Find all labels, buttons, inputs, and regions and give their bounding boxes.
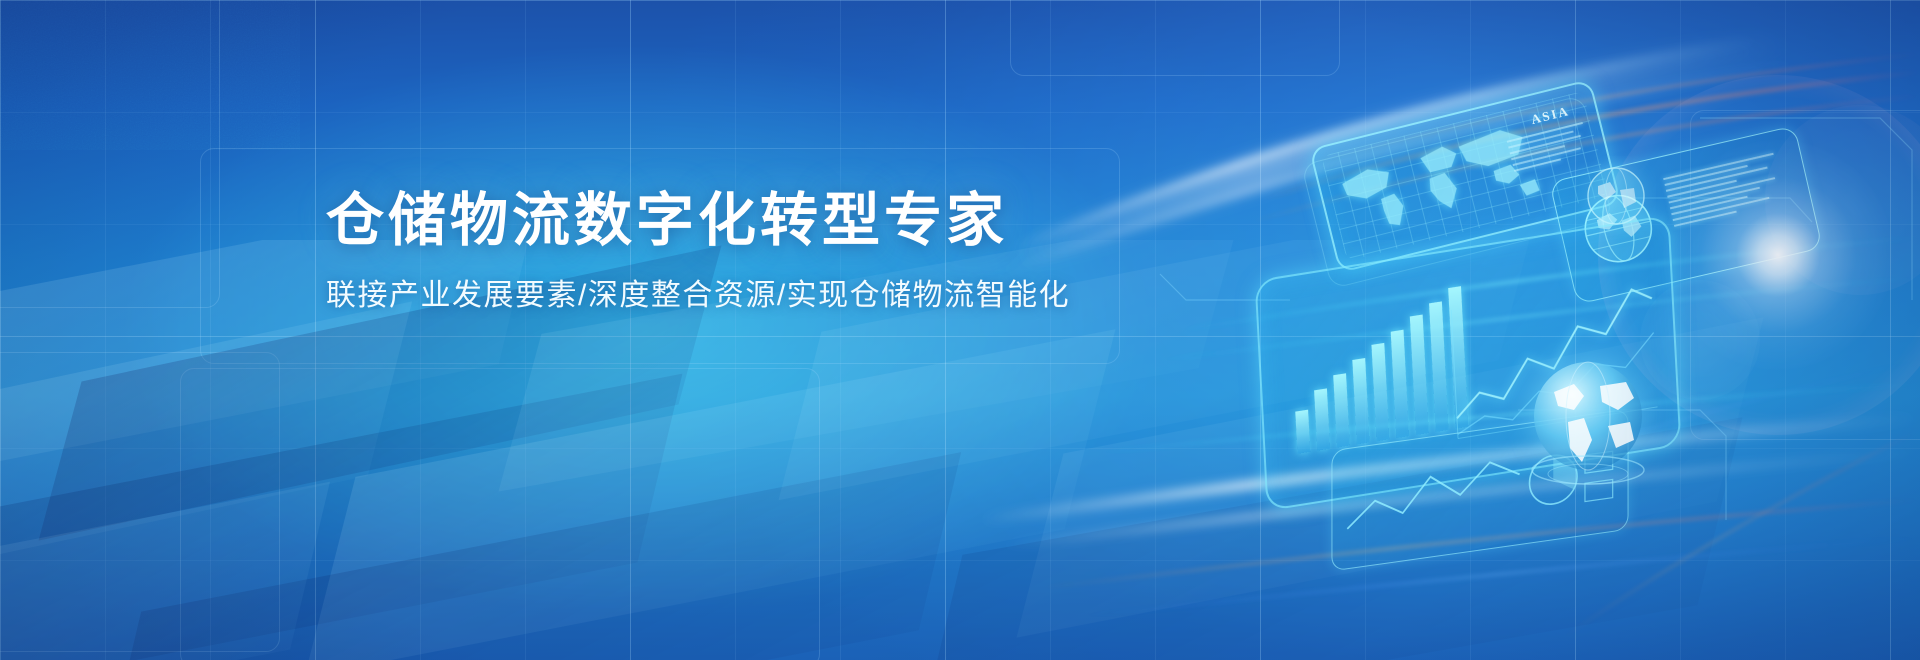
film-grain-overlay	[0, 0, 300, 150]
plate-4	[0, 374, 682, 660]
vignette-overlay	[0, 0, 1920, 660]
globe-icon-large	[1508, 336, 1668, 496]
plate-3	[0, 301, 412, 607]
decorative-frame-top-left	[0, 0, 220, 308]
decorative-frame-right	[1690, 110, 1920, 440]
plate-5	[305, 329, 1116, 660]
world-map-panel-frame	[1309, 79, 1621, 273]
globe-icon-small	[1576, 156, 1656, 236]
decorative-frame-top-right	[1010, 0, 1340, 76]
lens-flare-icon	[1663, 140, 1893, 370]
plate-8	[0, 482, 330, 660]
hero-copy: 仓储物流数字化转型专家 联接产业发展要素/深度整合资源/实现仓储物流智能化	[326, 186, 1326, 316]
background-grid-major	[0, 0, 1920, 660]
page-subtitle: 联接产业发展要素/深度整合资源/实现仓储物流智能化	[326, 276, 1326, 316]
background-grid	[0, 0, 1920, 660]
world-map-icon	[1326, 110, 1553, 256]
world-map-panel-outline	[1301, 95, 1613, 289]
page-title: 仓储物流数字化转型专家	[326, 186, 1326, 256]
data-globe-text-lines	[1663, 152, 1789, 227]
plate-7	[99, 452, 961, 660]
light-streaks-group	[0, 0, 1920, 660]
flare-ring-mid	[1765, 105, 1920, 295]
world-map-panel-shadow	[1301, 95, 1613, 289]
decorative-frame-lower-mid	[180, 368, 820, 660]
world-map-grid	[1321, 91, 1609, 261]
asia-label: ASIA	[1529, 103, 1571, 128]
decorative-frame-mid-left	[0, 352, 280, 652]
world-map-panel: ASIA	[1309, 79, 1621, 273]
hero-banner: ASIA	[0, 0, 1920, 660]
